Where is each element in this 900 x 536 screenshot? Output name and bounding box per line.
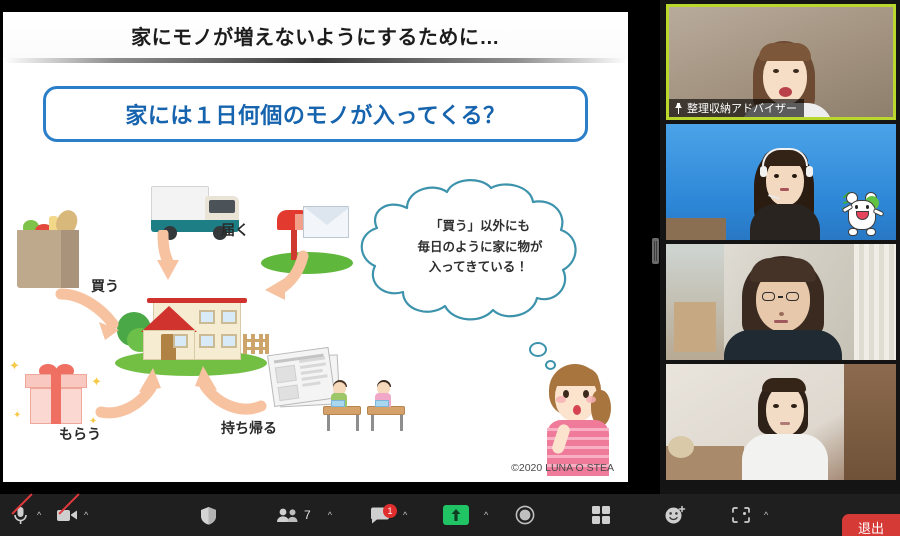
panel-resize-handle[interactable] bbox=[652, 238, 659, 264]
slide-headline-text: 家には１日何個のモノが入ってくる？ bbox=[125, 98, 505, 130]
participant-video-4 bbox=[666, 364, 896, 480]
video-off-icon bbox=[55, 504, 79, 526]
record-icon bbox=[513, 504, 537, 526]
participant-name-1: 整理収納アドバイザー bbox=[687, 100, 797, 116]
girl-character-illustration bbox=[541, 364, 619, 476]
grocery-bag-illustration bbox=[17, 208, 79, 288]
chat-chevron-icon[interactable]: ^ bbox=[401, 511, 407, 520]
breakout-rooms-icon bbox=[589, 504, 613, 526]
reactions-button[interactable] bbox=[663, 494, 687, 536]
shield-icon bbox=[196, 504, 220, 526]
security-button[interactable] bbox=[196, 494, 220, 536]
meeting-toolbar: ^ ^ bbox=[0, 494, 900, 536]
participant-tile-2[interactable] bbox=[666, 124, 896, 240]
microphone-muted-icon bbox=[8, 504, 32, 526]
meeting-stage: 家にモノが増えないようにするために… 家には１日何個のモノが入ってくる？ 買う bbox=[0, 0, 900, 536]
slide-copyright: ©2020 LUNA O STEA bbox=[511, 462, 614, 474]
house-illustration bbox=[111, 272, 271, 377]
envelope-illustration bbox=[303, 206, 349, 238]
screen-share-area[interactable]: 家にモノが増えないようにするために… 家には１日何個のモノが入ってくる？ 買う bbox=[0, 0, 660, 494]
participant-filmstrip: 整理収納アドバイザー bbox=[662, 0, 900, 494]
presentation-slide: 家にモノが増えないようにするために… 家には１日何個のモノが入ってくる？ 買う bbox=[3, 12, 628, 482]
gift-box-illustration bbox=[25, 364, 87, 424]
participant-tile-3[interactable] bbox=[666, 244, 896, 360]
participants-count: 7 bbox=[304, 508, 311, 522]
breakout-rooms-button[interactable] bbox=[589, 494, 613, 536]
participants-button[interactable]: 7 ^ bbox=[276, 494, 332, 536]
arrow-truck-to-house bbox=[149, 230, 193, 286]
focus-frame-icon bbox=[729, 504, 753, 526]
arrow-buy-to-house bbox=[55, 288, 125, 344]
chat-icon: 1 bbox=[368, 504, 392, 526]
share-chevron-icon[interactable]: ^ bbox=[482, 511, 488, 520]
participants-chevron-icon[interactable]: ^ bbox=[326, 511, 332, 520]
video-button[interactable]: ^ bbox=[55, 494, 88, 536]
leave-label: 退出 bbox=[858, 518, 884, 536]
thought-bubble: 「買う」以外にも毎日のように家に物が入ってきている ！ bbox=[355, 178, 605, 328]
participant-video-3 bbox=[666, 244, 896, 360]
label-receive: もらう bbox=[59, 424, 101, 444]
leave-meeting-button[interactable]: 退出 bbox=[842, 514, 900, 536]
participant-tile-4[interactable] bbox=[666, 364, 896, 480]
record-button[interactable] bbox=[513, 494, 537, 536]
arrow-gift-to-house bbox=[95, 368, 167, 420]
label-bring-home: 持ち帰る bbox=[221, 418, 277, 438]
more-options-button[interactable]: ^ bbox=[729, 494, 768, 536]
sparkle-icon: ✦ bbox=[13, 410, 21, 421]
sparkle-icon: ✦ bbox=[91, 374, 102, 390]
slide-headline-box: 家には１日何個のモノが入ってくる？ bbox=[43, 86, 588, 142]
participant-tile-1[interactable]: 整理収納アドバイザー bbox=[666, 4, 896, 120]
participant-name-tag-1: 整理収納アドバイザー bbox=[669, 99, 804, 117]
participants-icon bbox=[276, 504, 300, 526]
participant-video-2 bbox=[666, 124, 896, 240]
sparkle-icon: ✦ bbox=[9, 358, 20, 374]
arrow-mailbox-to-house bbox=[251, 250, 311, 310]
pin-icon bbox=[674, 103, 683, 114]
video-chevron-icon[interactable]: ^ bbox=[82, 511, 88, 520]
mute-button[interactable]: ^ bbox=[8, 494, 41, 536]
mute-chevron-icon[interactable]: ^ bbox=[35, 511, 41, 520]
slide-title: 家にモノが増えないようにするために… bbox=[3, 12, 628, 58]
thought-bubble-text: 「買う」以外にも毎日のように家に物が入ってきている ！ bbox=[377, 216, 583, 278]
reactions-icon bbox=[663, 504, 687, 526]
chat-unread-badge: 1 bbox=[383, 504, 397, 518]
frog-mascot bbox=[842, 188, 882, 236]
chat-button[interactable]: 1 ^ bbox=[368, 494, 407, 536]
thought-bubble-dot bbox=[529, 342, 547, 357]
label-deliver: 届く bbox=[221, 220, 249, 240]
title-divider bbox=[3, 58, 628, 63]
share-screen-icon bbox=[443, 505, 469, 525]
children-desks-illustration bbox=[323, 380, 409, 438]
arrow-newspaper-to-house bbox=[187, 364, 267, 418]
share-screen-button[interactable]: ^ bbox=[443, 494, 488, 536]
more-chevron-icon[interactable]: ^ bbox=[762, 511, 768, 520]
